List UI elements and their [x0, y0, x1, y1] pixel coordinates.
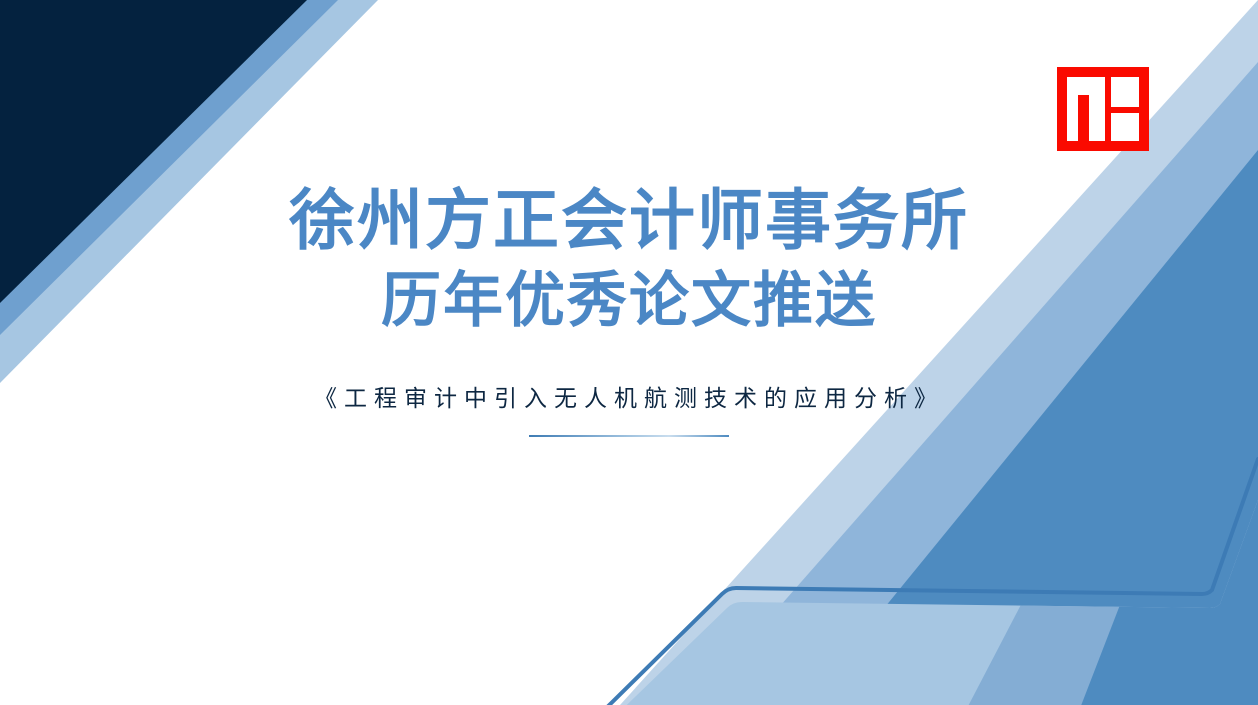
- title-slide: 徐州方正会计师事务所 历年优秀论文推送 《工程审计中引入无人机航测技术的应用分析…: [0, 0, 1258, 705]
- logo-cutout-right-bottom: [1111, 113, 1139, 141]
- bottom-shape-outline: [588, 459, 1258, 705]
- bottom-shape-fill: [605, 500, 1258, 705]
- slide-subtitle: 《工程审计中引入无人机航测技术的应用分析》: [0, 379, 1258, 413]
- fangzheng-logo: [1057, 67, 1149, 151]
- slide-title-line-1: 徐州方正会计师事务所: [0, 182, 1258, 260]
- slide-title-line-2: 历年优秀论文推送: [0, 266, 1258, 337]
- logo-cutout-left-stem: [1078, 95, 1089, 141]
- logo-cutout-right-top: [1111, 77, 1139, 107]
- title-text-block: 徐州方正会计师事务所 历年优秀论文推送 《工程审计中引入无人机航测技术的应用分析…: [0, 182, 1258, 437]
- title-divider-rule: [529, 435, 729, 437]
